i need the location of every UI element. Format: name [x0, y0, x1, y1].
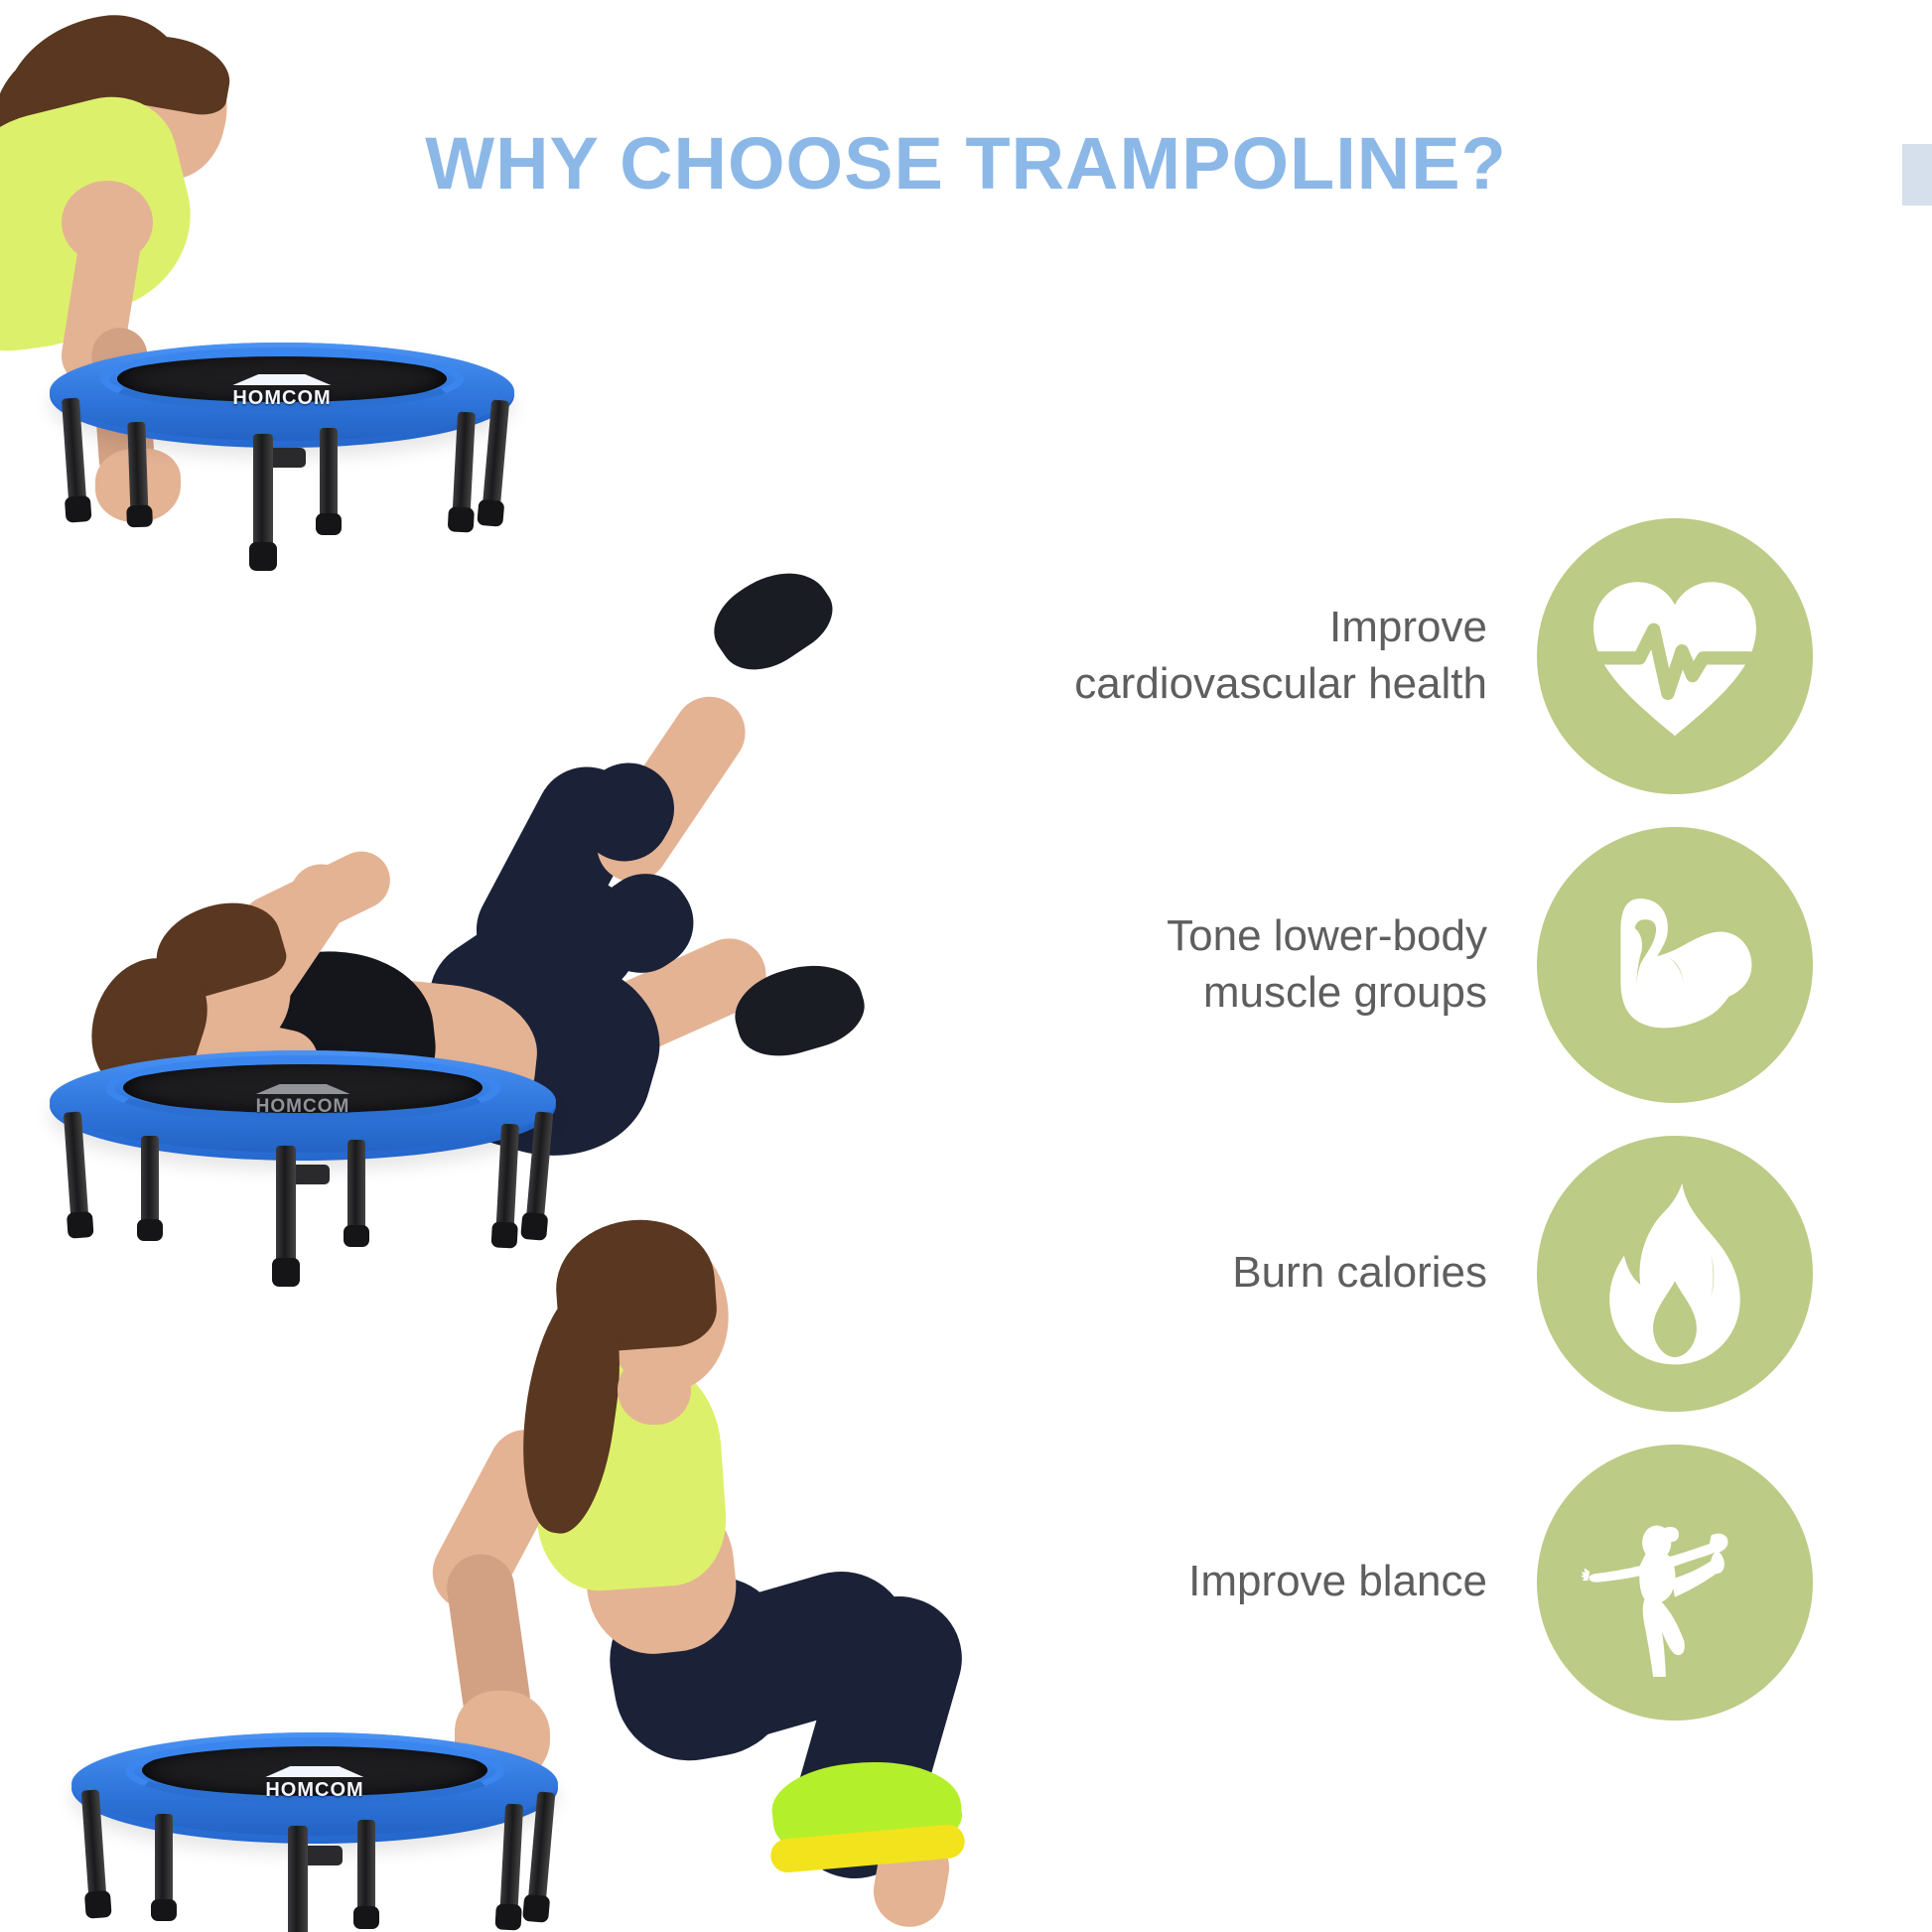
trampoline-leg — [253, 434, 273, 563]
benefit-label: Burn calories — [1232, 1245, 1537, 1301]
brand-logo: HOMCOM — [232, 374, 331, 410]
benefit-item[interactable]: Improve cardiovascular health — [1013, 501, 1932, 810]
trampoline-1: HOMCOM — [50, 343, 514, 531]
trampoline-leg — [357, 1820, 375, 1923]
brand-logo: HOMCOM — [256, 1084, 350, 1118]
trampoline-leg — [288, 1826, 308, 1932]
brand-text: HOMCOM — [256, 1096, 350, 1117]
brand-logo: HOMCOM — [265, 1766, 363, 1802]
benefit-item[interactable]: Burn calories — [1013, 1119, 1932, 1428]
benefit-item[interactable]: Tone lower-body muscle groups — [1013, 810, 1932, 1119]
brand-text: HOMCOM — [265, 1779, 363, 1801]
photo-push-up: HOMCOM — [0, 0, 655, 635]
infographic-page: WHY CHOOSE TRAMPOLINE? — [0, 0, 1932, 1932]
neck — [618, 1355, 691, 1425]
trampoline-leg — [155, 1814, 173, 1915]
photo-bicycle-crunch: HOMCOM — [40, 556, 894, 1231]
heart-pulse-icon — [1537, 518, 1813, 794]
roof-icon — [265, 1766, 363, 1777]
trampoline-3: HOMCOM — [71, 1732, 558, 1931]
shoe-raised — [700, 552, 845, 688]
flame-icon — [1537, 1136, 1813, 1412]
trampoline-leg — [127, 422, 148, 522]
benefit-label: Improve cardiovascular health — [1074, 600, 1537, 712]
yoga-balance-icon — [1537, 1445, 1813, 1721]
benefit-item[interactable]: Improve blance — [1013, 1428, 1932, 1736]
benefit-label: Improve blance — [1188, 1554, 1537, 1609]
benefit-label: Tone lower-body muscle groups — [1167, 908, 1537, 1021]
trampoline-leg — [320, 428, 338, 529]
roof-icon — [256, 1084, 350, 1094]
flexed-bicep-icon — [1537, 827, 1813, 1103]
title-accent-block — [1902, 144, 1932, 206]
photo-tricep-dip: HOMCOM — [60, 1196, 953, 1932]
brand-text: HOMCOM — [232, 387, 331, 409]
shoulder — [62, 181, 153, 264]
roof-icon — [232, 374, 331, 385]
benefits-list: Improve cardiovascular health Tone lower… — [1013, 501, 1932, 1736]
